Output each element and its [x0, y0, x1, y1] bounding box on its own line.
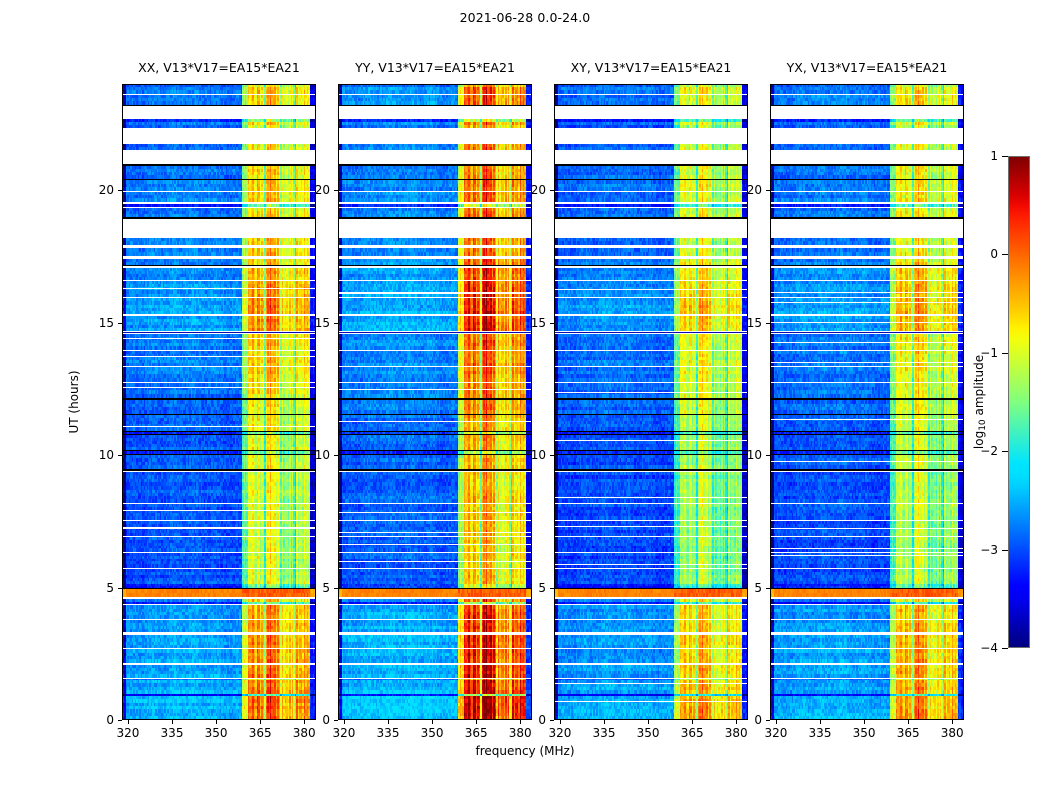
- colorbar-tick: [1002, 648, 1008, 649]
- spectrum-row: [555, 363, 747, 366]
- spectrum-row: [555, 586, 747, 588]
- spectrum-row: [771, 586, 963, 588]
- scan-boundary: [771, 164, 963, 166]
- spectrum-row: [123, 427, 315, 431]
- spectrum-row: [339, 175, 531, 179]
- y-tick-label: 10: [736, 448, 762, 462]
- colorbar-tick-label: −3: [970, 543, 998, 557]
- y-tick-label: 0: [88, 713, 114, 727]
- spectrum-row: [771, 252, 963, 256]
- spectrum-row: [771, 427, 963, 431]
- flagged-row: [339, 421, 531, 422]
- flagged-gap: [555, 219, 747, 236]
- spectrum-row: [339, 187, 531, 191]
- spectrum-row: [555, 252, 747, 256]
- flagged-gap: [555, 333, 747, 335]
- spectrum-row: [123, 124, 315, 128]
- flagged-gap: [771, 219, 963, 236]
- spectrum-row: [771, 124, 963, 128]
- flagged-gap: [339, 236, 531, 238]
- flagged-row: [339, 512, 531, 513]
- y-tick-label: 0: [304, 713, 330, 727]
- spectrum-row: [123, 101, 315, 105]
- spectrum-row: [123, 187, 315, 191]
- spectrum-row: [771, 629, 963, 632]
- scan-boundary: [339, 164, 531, 166]
- y-tick-label: 5: [520, 581, 546, 595]
- y-tick-label: 20: [736, 183, 762, 197]
- flagged-gap: [555, 257, 747, 259]
- x-tick: [260, 720, 261, 724]
- spectrum-row: [339, 533, 531, 536]
- flagged-gap: [555, 236, 747, 238]
- y-tick-label: 5: [736, 581, 762, 595]
- spectrum-row: [771, 451, 963, 454]
- spectrum-row: [771, 262, 963, 266]
- spectrum-row: [123, 465, 315, 469]
- x-tick-label: 380: [932, 726, 972, 740]
- spectrum-row: [771, 394, 963, 398]
- spectrum-row: [555, 119, 747, 122]
- y-tick-label: 15: [304, 316, 330, 330]
- flagged-gap: [771, 333, 963, 335]
- y-tick-label: 5: [88, 581, 114, 595]
- panel-title-xy: XY, V13*V17=EA15*EA21: [554, 60, 748, 75]
- spectrum-row: [555, 447, 747, 450]
- flagged-row: [555, 701, 747, 702]
- x-tick-label: 350: [844, 726, 884, 740]
- spectrum-row: [339, 346, 531, 350]
- spectrum-row: [555, 187, 747, 191]
- spectrum-row: [339, 90, 531, 94]
- colorbar-tick: [1002, 353, 1008, 354]
- spectrum-row: [771, 599, 963, 603]
- spectrum-row: [123, 394, 315, 398]
- flagged-gap: [555, 150, 747, 164]
- y-tick: [334, 190, 338, 191]
- spectrum-row: [123, 204, 315, 207]
- spectrum-row: [339, 432, 531, 434]
- spectrum-row: [339, 252, 531, 256]
- spectrum-row: [555, 432, 747, 434]
- spectrum-row: [771, 410, 963, 414]
- spectrum-row: [123, 311, 315, 315]
- x-tick: [864, 720, 865, 724]
- x-axis-label: frequency (MHz): [0, 744, 1050, 758]
- spectrum-row: [771, 581, 963, 585]
- spectrum-row: [555, 719, 747, 720]
- spectrum-row: [771, 659, 963, 663]
- spectrum-panel-yy[interactable]: [338, 84, 532, 720]
- spectrum-row: [771, 447, 963, 450]
- spectrum-row: [123, 175, 315, 179]
- x-tick: [216, 720, 217, 724]
- y-tick: [550, 588, 554, 589]
- spectrum-row: [123, 581, 315, 585]
- colorbar-label: log10 amplitude: [972, 355, 988, 449]
- x-tick-label: 365: [240, 726, 280, 740]
- spectrum-row: [555, 262, 747, 266]
- y-tick: [550, 720, 554, 721]
- spectrum-row: [555, 716, 747, 720]
- spectrum-row: [339, 410, 531, 414]
- spectrum-row: [555, 328, 747, 332]
- spectrum-row: [123, 294, 315, 298]
- spectrum-row: [339, 674, 531, 677]
- spectrum-row: [123, 363, 315, 366]
- spectrum-row: [771, 593, 963, 597]
- spectrum-row: [123, 690, 315, 694]
- spectrum-row: [123, 719, 315, 720]
- y-tick: [766, 455, 770, 456]
- spectrum-row: [123, 716, 315, 720]
- spectrum-row: [555, 90, 747, 94]
- flagged-row: [123, 426, 315, 427]
- colorbar-tick-label: 1: [970, 149, 998, 163]
- spectrum-row: [123, 262, 315, 266]
- spectrum-row: [339, 394, 531, 398]
- flagged-gap: [771, 150, 963, 164]
- spectrum-row: [123, 674, 315, 677]
- spectrum-row: [339, 147, 531, 151]
- flagged-gap: [123, 266, 315, 268]
- flagged-gap: [339, 246, 531, 248]
- y-tick: [766, 588, 770, 589]
- spectrum-row: [123, 277, 315, 280]
- flagged-gap: [771, 471, 963, 472]
- spectrum-row: [771, 346, 963, 350]
- flagged-row: [555, 526, 747, 527]
- y-tick-label: 15: [520, 316, 546, 330]
- flagged-gap: [339, 203, 531, 205]
- spectrum-row: [339, 482, 531, 486]
- spectrum-row: [771, 241, 963, 245]
- colorbar-tick: [1002, 254, 1008, 255]
- flagged-row: [123, 527, 315, 528]
- x-tick-label: 320: [756, 726, 796, 740]
- spectrum-row: [555, 198, 747, 201]
- spectrum-row: [339, 451, 531, 454]
- y-tick-label: 15: [88, 316, 114, 330]
- spectrum-row: [123, 328, 315, 332]
- spectrum-row: [771, 719, 963, 720]
- panel-title-yx: YX, V13*V17=EA15*EA21: [770, 60, 964, 75]
- spectrum-row: [123, 599, 315, 603]
- x-tick: [604, 720, 605, 724]
- spectrum-row: [555, 533, 747, 536]
- flagged-row: [771, 419, 963, 420]
- spectrum-row: [339, 516, 531, 520]
- spectrum-row: [555, 378, 747, 382]
- y-tick-label: 20: [304, 183, 330, 197]
- y-tick: [118, 455, 122, 456]
- colorbar-gradient: [1009, 157, 1029, 647]
- spectrum-row: [555, 346, 747, 350]
- flagged-row: [771, 528, 963, 529]
- y-tick: [766, 720, 770, 721]
- spectrum-row: [771, 119, 963, 122]
- y-tick-label: 20: [88, 183, 114, 197]
- flagged-gap: [771, 127, 963, 143]
- flagged-gap: [123, 664, 315, 666]
- spectrum-row: [771, 294, 963, 298]
- y-tick: [550, 190, 554, 191]
- spectrum-row: [555, 85, 747, 87]
- flagged-gap: [555, 634, 747, 636]
- flagged-gap: [771, 257, 963, 259]
- spectrum-row: [771, 311, 963, 315]
- y-tick-label: 0: [520, 713, 546, 727]
- flagged-gap: [771, 203, 963, 205]
- spectrum-row: [339, 586, 531, 588]
- flagged-gap: [771, 246, 963, 248]
- flagged-gap: [555, 127, 747, 143]
- y-tick: [766, 323, 770, 324]
- spectrum-row: [339, 311, 531, 315]
- spectrum-row: [339, 294, 531, 298]
- spectrum-row: [555, 629, 747, 632]
- spectrum-row: [555, 615, 747, 619]
- flagged-gap: [123, 471, 315, 472]
- spectrum-row: [555, 516, 747, 520]
- x-tick-label: 365: [888, 726, 928, 740]
- spectrum-row: [339, 241, 531, 245]
- spectrum-row: [555, 241, 747, 245]
- spectrum-row: [771, 645, 963, 649]
- flagged-gap: [339, 150, 531, 164]
- spectrum-row: [555, 679, 747, 681]
- spectrum-row: [771, 277, 963, 280]
- spectrum-row: [123, 659, 315, 663]
- y-tick-label: 5: [304, 581, 330, 595]
- x-tick-label: 320: [324, 726, 364, 740]
- x-tick-label: 335: [368, 726, 408, 740]
- spectrum-row: [339, 719, 531, 720]
- x-tick: [388, 720, 389, 724]
- x-tick: [432, 720, 433, 724]
- x-tick: [128, 720, 129, 724]
- spectrum-row: [555, 659, 747, 663]
- flagged-gap: [123, 106, 315, 119]
- spectrum-row: [771, 564, 963, 567]
- spectrum-row: [123, 629, 315, 632]
- flagged-gap: [555, 106, 747, 119]
- flagged-gap: [339, 219, 531, 236]
- spectrum-row: [771, 147, 963, 151]
- flagged-row: [339, 389, 531, 390]
- y-axis-label: UT (hours): [67, 370, 81, 433]
- x-tick: [476, 720, 477, 724]
- flagged-row: [123, 288, 315, 289]
- spectrum-row: [555, 645, 747, 649]
- flagged-gap: [339, 471, 531, 472]
- y-tick-label: 20: [520, 183, 546, 197]
- y-tick: [118, 323, 122, 324]
- spectrum-row: [555, 427, 747, 431]
- x-tick-label: 335: [800, 726, 840, 740]
- spectrum-row: [339, 645, 531, 649]
- spectrum-row: [555, 311, 747, 315]
- spectrum-row: [339, 465, 531, 469]
- spectrum-row: [339, 447, 531, 450]
- spectrum-row: [123, 432, 315, 434]
- flagged-gap: [771, 236, 963, 238]
- spectrum-row: [555, 175, 747, 179]
- spectrum-row: [555, 394, 747, 398]
- y-tick: [118, 720, 122, 721]
- x-tick-label: 320: [108, 726, 148, 740]
- x-tick: [952, 720, 953, 724]
- spectrum-row: [339, 690, 531, 694]
- spectrum-row: [771, 90, 963, 94]
- x-tick-label: 365: [456, 726, 496, 740]
- flagged-gap: [771, 266, 963, 268]
- spectrum-row: [771, 482, 963, 486]
- spectrum-row: [339, 499, 531, 503]
- panel-title-yy: YY, V13*V17=EA15*EA21: [338, 60, 532, 75]
- flagged-row: [555, 289, 747, 290]
- flagged-gap: [339, 634, 531, 636]
- spectrum-row: [339, 659, 531, 663]
- colorbar-label-sub: 10: [978, 419, 988, 430]
- flagged-gap: [123, 236, 315, 238]
- spectrum-row: [339, 262, 531, 266]
- flagged-row: [771, 322, 963, 323]
- spectrum-row: [555, 581, 747, 585]
- flagged-row: [771, 292, 963, 293]
- spectrum-row: [771, 214, 963, 217]
- spectrum-row: [555, 410, 747, 414]
- scan-boundary: [123, 399, 315, 401]
- y-tick: [118, 190, 122, 191]
- flagged-row: [771, 548, 963, 549]
- spectrum-row: [339, 198, 531, 201]
- flagged-row: [771, 461, 963, 462]
- spectrum-row: [123, 346, 315, 350]
- flagged-row: [339, 561, 531, 562]
- x-tick: [692, 720, 693, 724]
- spectrum-row: [123, 378, 315, 382]
- flagged-gap: [771, 634, 963, 636]
- x-tick: [560, 720, 561, 724]
- spectrum-row: [123, 198, 315, 201]
- y-tick: [550, 323, 554, 324]
- flagged-gap: [555, 246, 747, 248]
- spectrum-row: [123, 252, 315, 256]
- spectrum-row: [339, 204, 531, 207]
- spectrum-row: [123, 679, 315, 681]
- spectrum-row: [123, 586, 315, 588]
- y-tick: [334, 323, 338, 324]
- colorbar[interactable]: [1008, 156, 1030, 648]
- spectrum-row: [555, 147, 747, 151]
- scan-boundary: [555, 164, 747, 166]
- flagged-row: [555, 440, 747, 441]
- x-tick-label: 380: [716, 726, 756, 740]
- spectrum-row: [123, 615, 315, 619]
- colorbar-tick: [1002, 550, 1008, 551]
- spectrum-row: [123, 645, 315, 649]
- spectrum-row: [123, 410, 315, 414]
- flagged-row: [339, 532, 531, 533]
- x-tick-label: 335: [152, 726, 192, 740]
- flagged-gap: [123, 257, 315, 259]
- spectrum-row: [555, 674, 747, 677]
- spectrum-row: [771, 363, 963, 366]
- spectrum-row: [771, 101, 963, 105]
- spectrum-row: [555, 593, 747, 597]
- spectrum-panel-yx[interactable]: [770, 84, 964, 720]
- flagged-row: [555, 392, 747, 393]
- x-tick: [172, 720, 173, 724]
- spectrum-row: [123, 451, 315, 454]
- spectrum-row: [339, 564, 531, 567]
- spectrum-row: [339, 214, 531, 217]
- flagged-row: [555, 564, 747, 565]
- spectrum-row: [123, 516, 315, 520]
- x-tick: [344, 720, 345, 724]
- flagged-row: [339, 544, 531, 545]
- spectrum-row: [555, 482, 747, 486]
- flagged-gap: [555, 471, 747, 472]
- flagged-gap: [339, 664, 531, 666]
- spectrum-row: [771, 465, 963, 469]
- flagged-row: [123, 338, 315, 339]
- flagged-row: [123, 387, 315, 388]
- y-tick: [766, 190, 770, 191]
- flagged-gap: [123, 127, 315, 143]
- flagged-row: [555, 497, 747, 498]
- spectrum-row: [771, 328, 963, 332]
- spectrum-row: [123, 447, 315, 450]
- spectrum-row: [771, 690, 963, 694]
- flagged-gap: [555, 203, 747, 205]
- scan-boundary: [555, 399, 747, 401]
- spectrum-row: [555, 451, 747, 454]
- spectrum-row: [771, 204, 963, 207]
- x-tick-label: 380: [500, 726, 540, 740]
- spectrum-row: [339, 581, 531, 585]
- spectrum-row: [771, 187, 963, 191]
- flagged-gap: [555, 266, 747, 268]
- x-tick: [776, 720, 777, 724]
- x-tick: [908, 720, 909, 724]
- spectrum-row: [123, 533, 315, 536]
- spectrum-row: [771, 499, 963, 503]
- spectrum-row: [123, 85, 315, 87]
- spectrum-row: [339, 85, 531, 87]
- flagged-gap: [123, 203, 315, 205]
- spectrum-row: [555, 204, 747, 207]
- spectrum-row: [555, 548, 747, 551]
- spectrum-row: [771, 679, 963, 681]
- spectrum-row: [771, 533, 963, 536]
- spectrum-panel-xx[interactable]: [122, 84, 316, 720]
- flagged-row: [771, 302, 963, 303]
- x-tick: [820, 720, 821, 724]
- flagged-gap: [339, 106, 531, 119]
- x-tick-label: 320: [540, 726, 580, 740]
- spectrum-panel-xy[interactable]: [554, 84, 748, 720]
- spectrum-row: [771, 175, 963, 179]
- flagged-row: [123, 510, 315, 511]
- spectrum-row: [339, 328, 531, 332]
- y-tick: [334, 588, 338, 589]
- spectrum-row: [123, 90, 315, 94]
- spectrum-row: [555, 101, 747, 105]
- x-tick: [648, 720, 649, 724]
- spectrum-row: [123, 499, 315, 503]
